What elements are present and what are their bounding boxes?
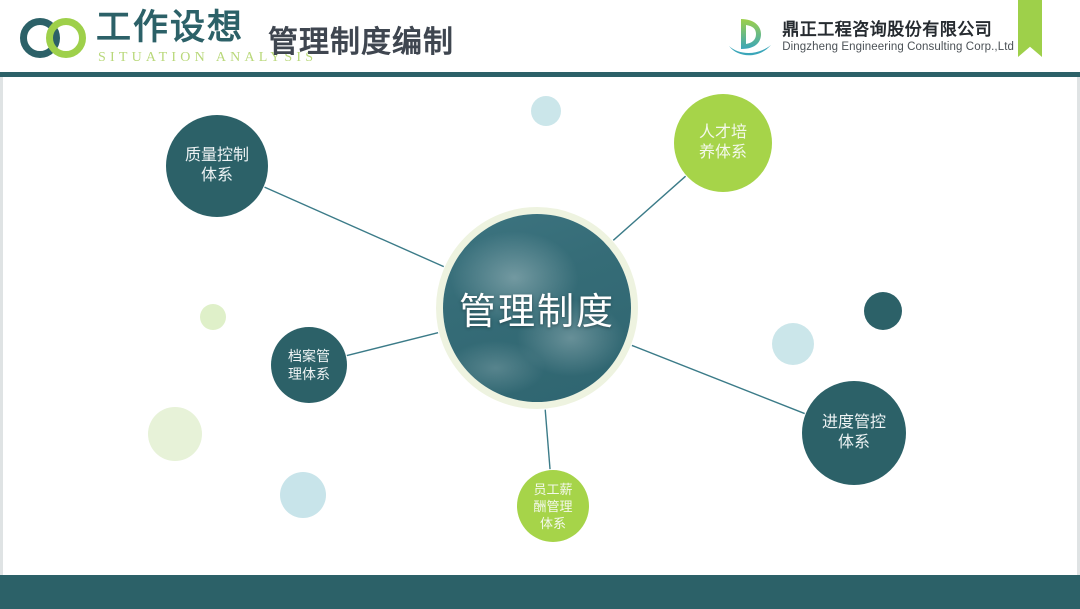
connector-line — [545, 410, 550, 469]
decorative-dot — [200, 304, 226, 330]
situation-analysis-logo-icon — [20, 16, 94, 58]
decorative-dot — [772, 323, 814, 365]
node-progress[interactable]: 进度管控 体系 — [802, 381, 906, 485]
node-talent[interactable]: 人才培 养体系 — [674, 94, 772, 192]
node-label-salary: 员工薪 酬管理 体系 — [533, 481, 572, 532]
connector-line — [347, 333, 438, 356]
diagram-canvas: 管理制度质量控制 体系人才培 养体系档案管 理体系员工薪 酬管理 体系进度管控 … — [0, 77, 1080, 575]
slide: 工作设想 SITUATION ANALYSIS 管理制度编制 鼎正工程咨询股 — [0, 0, 1080, 609]
ring-green-icon — [46, 18, 86, 58]
node-salary[interactable]: 员工薪 酬管理 体系 — [517, 470, 589, 542]
decorative-dot — [864, 292, 902, 330]
frame-left — [0, 77, 3, 575]
decorative-dot — [531, 96, 561, 126]
decorative-dot — [280, 472, 326, 518]
company-logo-icon — [727, 15, 773, 59]
hub-node-label: 管理制度 — [459, 281, 615, 335]
node-label-talent: 人才培 养体系 — [699, 123, 747, 163]
company-name-cn: 鼎正工程咨询股份有限公司 — [782, 19, 1014, 40]
slide-header: 工作设想 SITUATION ANALYSIS 管理制度编制 鼎正工程咨询股 — [0, 0, 1080, 74]
hub-node[interactable]: 管理制度 — [436, 207, 638, 409]
company-branding: 鼎正工程咨询股份有限公司 Dingzheng Engineering Consu… — [727, 12, 1014, 62]
node-label-archive: 档案管 理体系 — [288, 347, 330, 383]
slide-footer — [0, 575, 1080, 609]
node-archive[interactable]: 档案管 理体系 — [271, 327, 347, 403]
page-title: 管理制度编制 — [268, 17, 454, 61]
node-label-quality: 质量控制 体系 — [185, 146, 249, 186]
company-name-en: Dingzheng Engineering Consulting Corp.,L… — [782, 40, 1014, 55]
brand-title-cn: 工作设想 — [96, 8, 244, 48]
bookmark-ribbon-icon — [1018, 0, 1042, 57]
connector-line — [265, 187, 444, 267]
node-label-progress: 进度管控 体系 — [822, 413, 886, 453]
decorative-dot — [148, 407, 202, 461]
node-quality[interactable]: 质量控制 体系 — [166, 115, 268, 217]
